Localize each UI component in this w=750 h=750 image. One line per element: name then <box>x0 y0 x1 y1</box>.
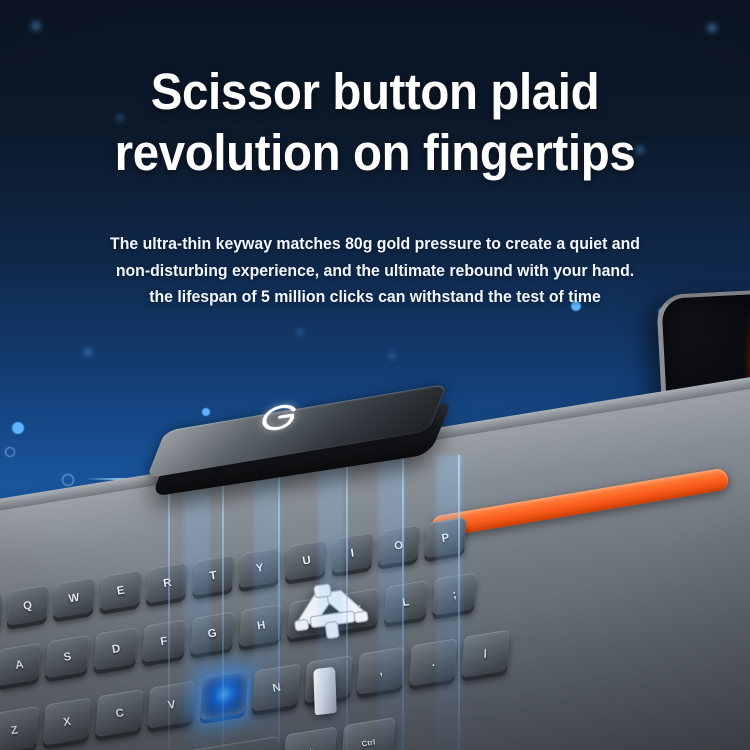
headline-line-2: revolution on fingertips <box>26 123 724 184</box>
subcopy-line-3: the lifespan of 5 million clicks can wit… <box>48 284 703 311</box>
subcopy-line-2: non-disturbing experience, and the ultim… <box>48 258 703 285</box>
page-title: Scissor button plaid revolution on finge… <box>26 62 724 183</box>
headline-line-1: Scissor button plaid <box>26 62 724 123</box>
promo-banner: TabQWERTYUIOPCaps LockASDFGHJKL;ShiftZXC… <box>0 0 750 750</box>
subcopy-line-1: The ultra-thin keyway matches 80g gold p… <box>48 231 703 258</box>
subcopy-block: The ultra-thin keyway matches 80g gold p… <box>48 231 703 311</box>
